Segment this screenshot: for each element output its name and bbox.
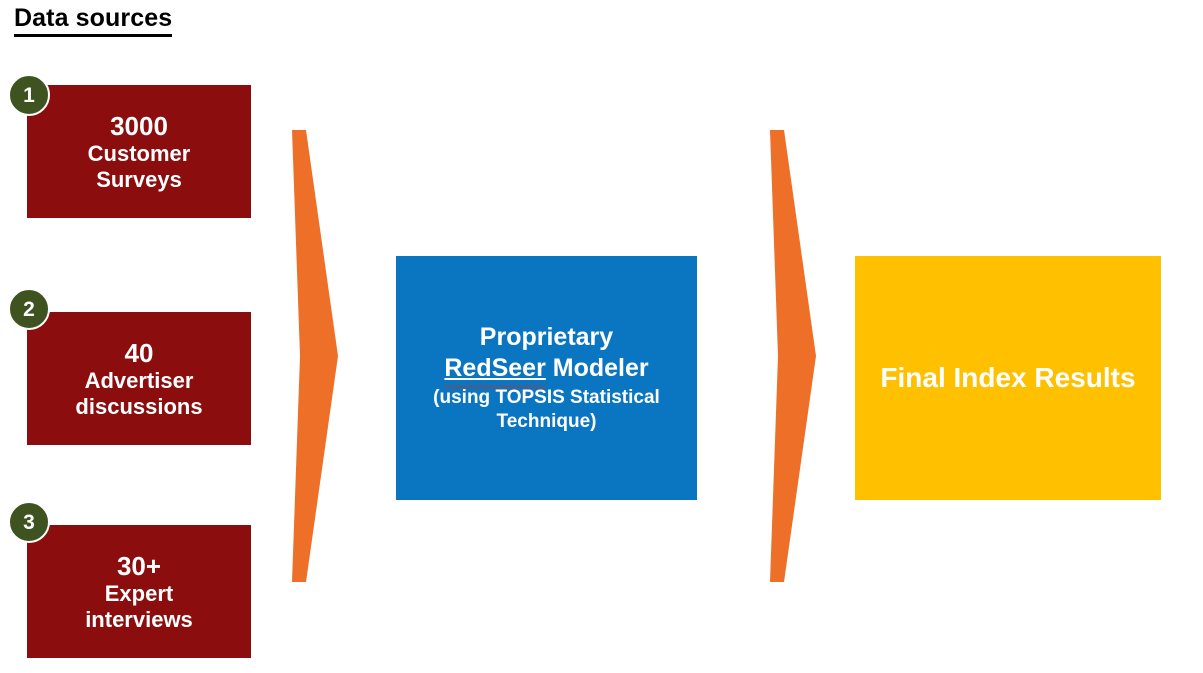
source-card-label-line-2: Surveys [96, 167, 182, 193]
brand-name-redseer: RedSeer [444, 354, 545, 382]
step-badge-3: 3 [8, 501, 50, 543]
source-card-label-line-1: Customer [88, 141, 191, 167]
model-line-2-rest: Modeler [546, 354, 649, 382]
source-card-customer-surveys[interactable]: 3000 Customer Surveys [27, 85, 251, 218]
source-card-value: 3000 [110, 111, 168, 141]
source-card-value: 30+ [117, 551, 161, 581]
source-card-label-line-2: discussions [75, 394, 202, 420]
results-box[interactable]: Final Index Results [855, 256, 1161, 500]
source-card-label-line-1: Advertiser [85, 368, 194, 394]
source-card-label-line-1: Expert [105, 581, 173, 607]
results-label: Final Index Results [880, 361, 1135, 395]
source-card-advertiser-discussions[interactable]: 40 Advertiser discussions [27, 312, 251, 445]
source-card-expert-interviews[interactable]: 30+ Expert interviews [27, 525, 251, 658]
arrow-right-icon [768, 130, 824, 582]
step-badge-1: 1 [8, 74, 50, 116]
source-card-value: 40 [125, 338, 154, 368]
arrow-right-glyph [290, 130, 346, 582]
model-line-1: Proprietary [480, 322, 613, 353]
arrow-right-icon [290, 130, 346, 582]
model-box[interactable]: Proprietary RedSeer Modeler (using TOPSI… [396, 256, 697, 500]
model-sub-line-2: Technique) [497, 410, 597, 434]
step-badge-2: 2 [8, 288, 50, 330]
source-card-label-line-2: interviews [85, 607, 193, 633]
model-line-2: RedSeer Modeler [444, 353, 648, 384]
arrow-right-glyph [768, 130, 824, 582]
page-title: Data sources [14, 4, 172, 37]
